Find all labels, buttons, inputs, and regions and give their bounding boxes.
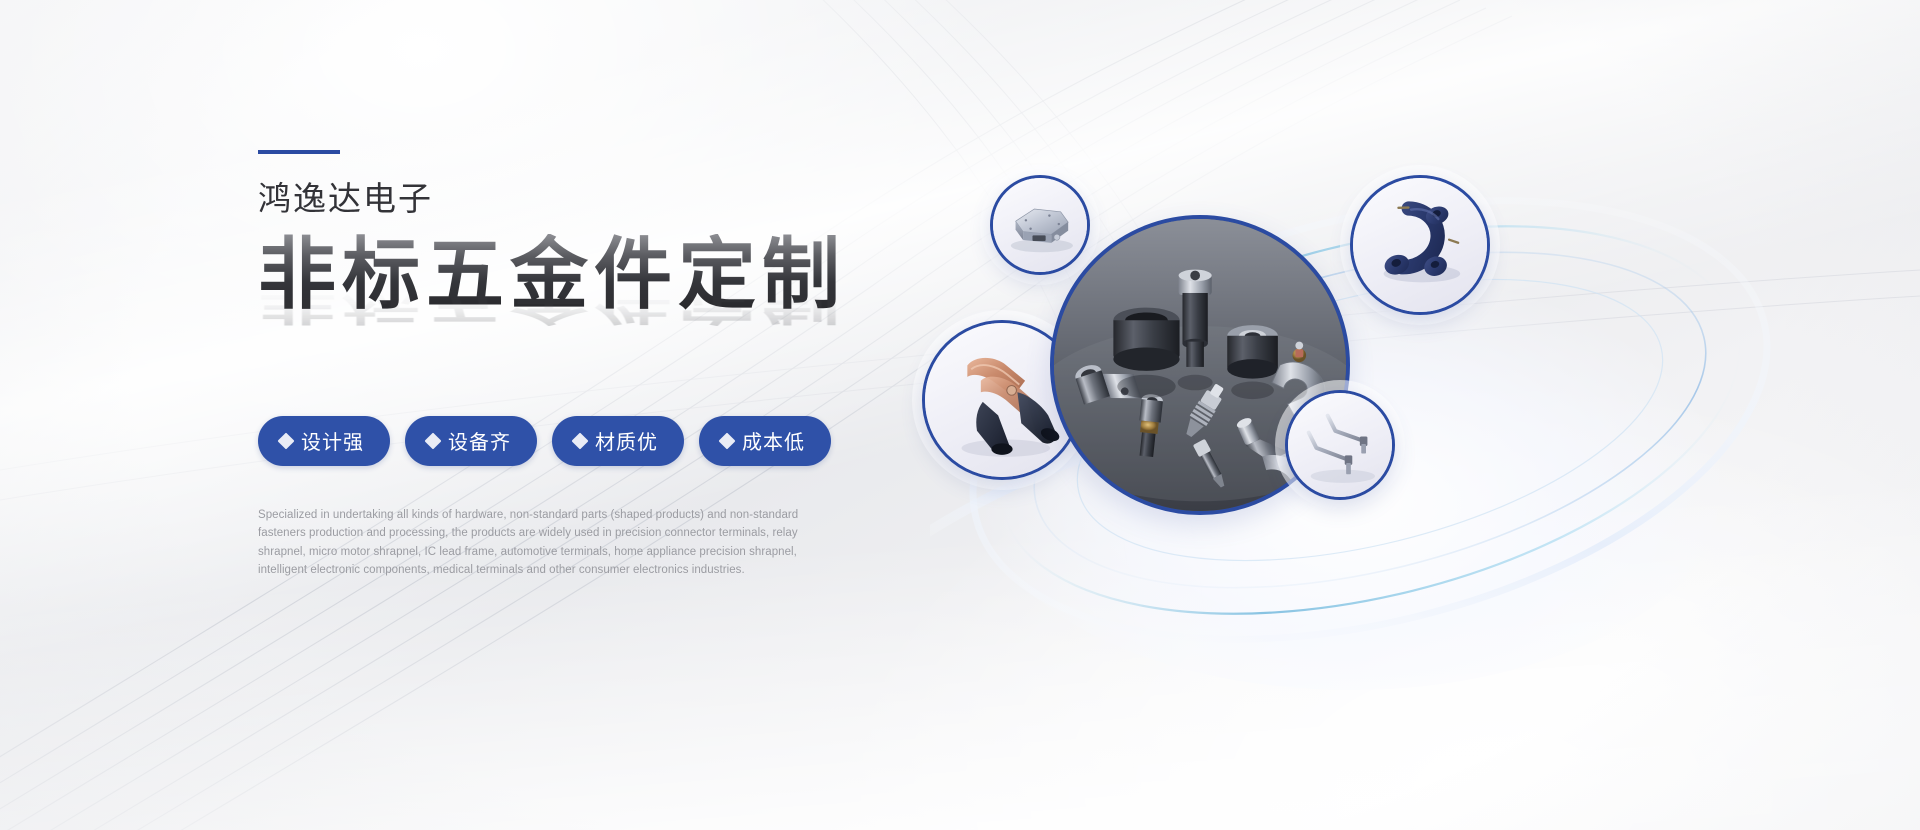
- feature-badge-material[interactable]: 材质优: [552, 416, 684, 466]
- feature-badge-list: 设计强 设备齐 材质优 成本低: [258, 416, 878, 466]
- hero-banner: 鸿逸达电子 非标五金件定制 非标五金件定制 设计强 设备齐 材质优 成本低: [0, 0, 1920, 830]
- product-showcase: [930, 120, 1810, 680]
- feature-badge-label: 设备齐: [448, 426, 511, 455]
- diamond-icon: [719, 432, 736, 449]
- diamond-icon: [425, 432, 442, 449]
- feature-badge-label: 成本低: [742, 426, 805, 455]
- product-circle-retaining-ring[interactable]: [1350, 175, 1490, 315]
- headline-block: 非标五金件定制 非标五金件定制: [258, 234, 878, 362]
- feature-badge-equipment[interactable]: 设备齐: [405, 416, 537, 466]
- feature-badge-label: 材质优: [595, 426, 658, 455]
- bent-metal-terminal-pins-icon: [1288, 393, 1392, 497]
- diamond-icon: [572, 432, 589, 449]
- feature-badge-design[interactable]: 设计强: [258, 416, 390, 466]
- company-description: Specialized in undertaking all kinds of …: [258, 506, 830, 579]
- blue-retaining-ring-icon: [1353, 178, 1487, 312]
- diamond-icon: [278, 432, 295, 449]
- headline-reflection: 非标五金件定制: [258, 281, 846, 326]
- hero-copy: 鸿逸达电子 非标五金件定制 非标五金件定制 设计强 设备齐 材质优 成本低: [258, 150, 878, 579]
- feature-badge-label: 设计强: [301, 426, 364, 455]
- accent-rule: [258, 150, 340, 154]
- product-circle-terminal-pins[interactable]: [1285, 390, 1395, 500]
- feature-badge-cost[interactable]: 成本低: [699, 416, 831, 466]
- brand-name: 鸿逸达电子: [258, 182, 878, 218]
